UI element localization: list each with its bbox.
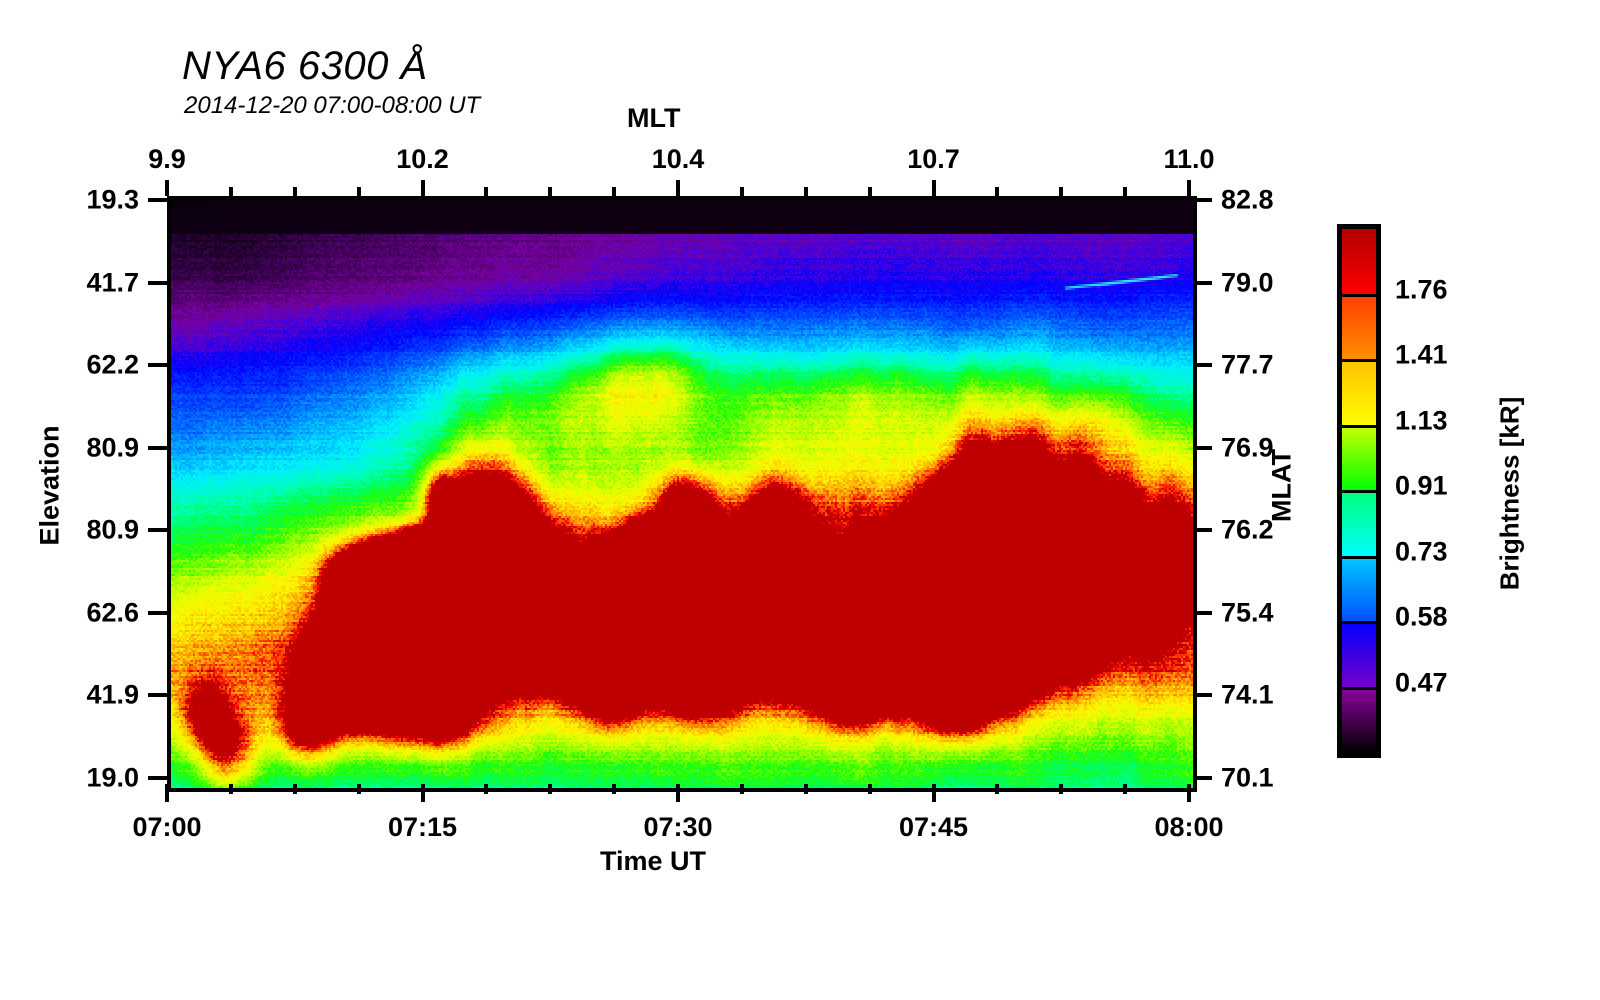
- left-tick-label: 19.3: [17, 185, 139, 216]
- top-tick-label: 10.4: [652, 144, 705, 175]
- right-tick-label: 74.1: [1221, 680, 1274, 711]
- top-major-tick: [932, 180, 936, 196]
- keogram-plot-area: [167, 196, 1197, 792]
- colorbar-segment: [1342, 557, 1376, 623]
- right-tick: [1193, 528, 1212, 532]
- top-minor-tick: [612, 187, 616, 196]
- colorbar-divider: [1342, 621, 1376, 624]
- bottom-minor-tick: [1123, 784, 1127, 794]
- bottom-tick-label: 07:15: [388, 812, 457, 843]
- colorbar-divider: [1342, 425, 1376, 428]
- left-tick-label: 19.0: [17, 763, 139, 794]
- left-tick: [148, 611, 167, 615]
- colorbar-divider: [1342, 359, 1376, 362]
- colorbar: [1337, 224, 1381, 758]
- colorbar-segment: [1342, 360, 1376, 426]
- bottom-tick-label: 07:45: [899, 812, 968, 843]
- left-tick-label: 62.2: [17, 350, 139, 381]
- top-minor-tick: [229, 187, 233, 196]
- top-axis-title: MLT: [627, 103, 680, 134]
- right-tick: [1193, 446, 1212, 450]
- left-tick: [148, 198, 167, 202]
- top-major-tick: [676, 180, 680, 196]
- bottom-major-tick: [932, 784, 936, 802]
- top-tick-label: 10.7: [907, 144, 960, 175]
- colorbar-divider: [1342, 687, 1376, 690]
- colorbar-segment: [1342, 491, 1376, 557]
- top-tick-label: 11.0: [1163, 144, 1214, 175]
- bottom-minor-tick: [548, 784, 552, 794]
- left-tick-label: 80.9: [17, 432, 139, 463]
- colorbar-tick-label: 1.13: [1395, 405, 1448, 436]
- colorbar-segment: [1342, 229, 1376, 295]
- colorbar-segment: [1342, 426, 1376, 492]
- top-major-tick: [1187, 180, 1191, 196]
- colorbar-tick-label: 0.73: [1395, 536, 1448, 567]
- top-minor-tick: [995, 187, 999, 196]
- top-tick-label: 10.2: [396, 144, 449, 175]
- top-minor-tick: [293, 187, 297, 196]
- right-tick-label: 82.8: [1221, 185, 1274, 216]
- left-tick: [148, 363, 167, 367]
- colorbar-segment: [1342, 688, 1376, 754]
- colorbar-tick-label: 1.41: [1395, 340, 1448, 371]
- top-minor-tick: [1123, 187, 1127, 196]
- top-minor-tick: [804, 187, 808, 196]
- colorbar-divider: [1342, 490, 1376, 493]
- top-minor-tick: [484, 187, 488, 196]
- top-tick-label: 9.9: [148, 144, 186, 175]
- top-minor-tick: [740, 187, 744, 196]
- top-minor-tick: [357, 187, 361, 196]
- left-tick: [148, 446, 167, 450]
- left-tick-label: 41.9: [17, 680, 139, 711]
- right-tick-label: 76.9: [1221, 432, 1274, 463]
- keogram-image: [171, 200, 1193, 788]
- right-tick: [1193, 776, 1212, 780]
- bottom-minor-tick: [293, 784, 297, 794]
- left-tick-label: 80.9: [17, 515, 139, 546]
- left-tick-label: 41.7: [17, 267, 139, 298]
- bottom-minor-tick: [804, 784, 808, 794]
- right-tick: [1193, 198, 1212, 202]
- top-minor-tick: [868, 187, 872, 196]
- left-tick: [148, 776, 167, 780]
- right-tick: [1193, 363, 1212, 367]
- bottom-major-tick: [165, 784, 169, 802]
- right-tick: [1193, 281, 1212, 285]
- left-tick: [148, 281, 167, 285]
- right-tick-label: 70.1: [1221, 763, 1274, 794]
- top-minor-tick: [1059, 187, 1063, 196]
- colorbar-divider: [1342, 556, 1376, 559]
- bottom-minor-tick: [357, 784, 361, 794]
- bottom-axis-title: Time UT: [600, 846, 706, 877]
- colorbar-tick-label: 1.76: [1395, 274, 1448, 305]
- left-tick: [148, 528, 167, 532]
- colorbar-segment: [1342, 295, 1376, 361]
- figure-subtitle: 2014-12-20 07:00-08:00 UT: [184, 92, 480, 120]
- colorbar-divider: [1342, 294, 1376, 297]
- bottom-minor-tick: [1059, 784, 1063, 794]
- bottom-minor-tick: [229, 784, 233, 794]
- right-tick-label: 76.2: [1221, 515, 1274, 546]
- bottom-major-tick: [1187, 784, 1191, 802]
- left-tick-label: 62.6: [17, 597, 139, 628]
- bottom-tick-label: 08:00: [1154, 812, 1223, 843]
- bottom-tick-label: 07:30: [643, 812, 712, 843]
- figure-title: NYA6 6300 Å: [182, 44, 428, 89]
- right-tick-label: 79.0: [1221, 267, 1274, 298]
- bottom-minor-tick: [868, 784, 872, 794]
- colorbar-segment: [1342, 622, 1376, 688]
- bottom-major-tick: [676, 784, 680, 802]
- bottom-tick-label: 07:00: [132, 812, 201, 843]
- top-minor-tick: [548, 187, 552, 196]
- bottom-minor-tick: [612, 784, 616, 794]
- colorbar-tick-label: 0.91: [1395, 471, 1448, 502]
- left-tick: [148, 693, 167, 697]
- colorbar-tick-label: 0.58: [1395, 602, 1448, 633]
- right-tick: [1193, 611, 1212, 615]
- right-tick-label: 75.4: [1221, 597, 1274, 628]
- bottom-minor-tick: [995, 784, 999, 794]
- colorbar-tick-label: 0.47: [1395, 667, 1448, 698]
- bottom-major-tick: [421, 784, 425, 802]
- keogram-figure: NYA6 6300 Å 2014-12-20 07:00-08:00 UT ML…: [0, 0, 1600, 1000]
- right-tick: [1193, 693, 1212, 697]
- top-major-tick: [165, 180, 169, 196]
- bottom-minor-tick: [484, 784, 488, 794]
- colorbar-title: Brightness [kR]: [1495, 379, 1526, 609]
- right-tick-label: 77.7: [1221, 350, 1274, 381]
- bottom-minor-tick: [740, 784, 744, 794]
- top-major-tick: [421, 180, 425, 196]
